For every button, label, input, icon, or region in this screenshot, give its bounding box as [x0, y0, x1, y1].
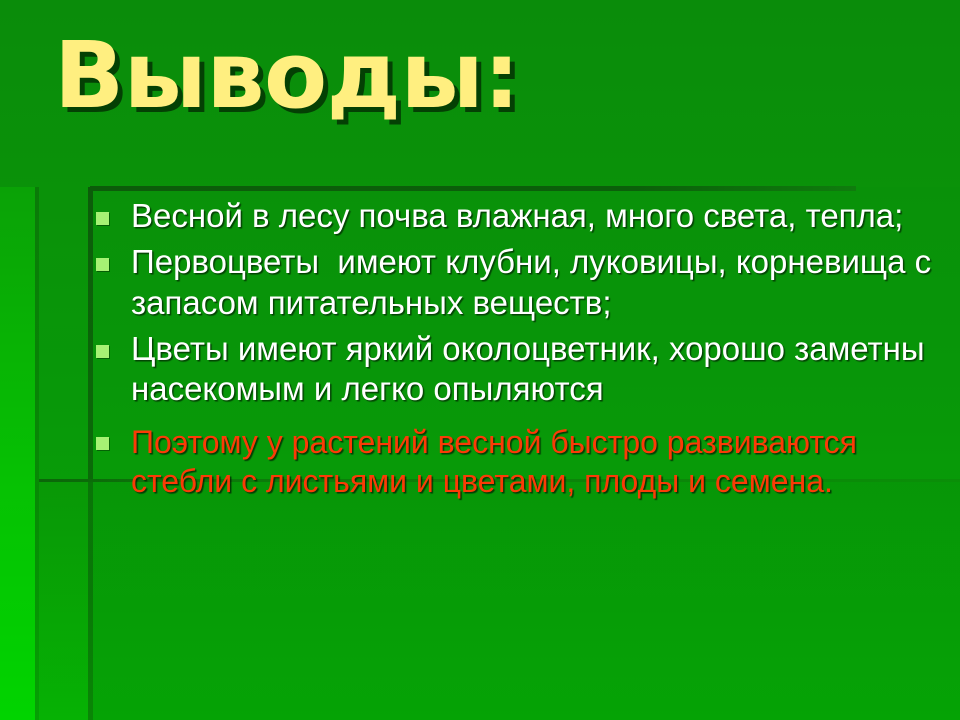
bullet-text: Цветы имеют яркий околоцветник, хорошо з…: [131, 329, 956, 410]
bullet-text: Первоцветы имеют клубни, луковицы, корне…: [131, 242, 956, 323]
bullet-square-icon: [96, 258, 109, 271]
bullet-text: Весной в лесу почва влажная, много света…: [131, 196, 956, 236]
left-accent-strip: [0, 187, 35, 720]
presentation-slide: Выводы: Весной в лесу почва влажная, мно…: [0, 0, 960, 720]
bullet-square-icon: [96, 345, 109, 358]
content-panel-top-border: [90, 186, 856, 191]
slide-title: Выводы:: [54, 30, 520, 122]
list-item: Цветы имеют яркий околоцветник, хорошо з…: [96, 329, 956, 410]
bullet-square-icon: [96, 212, 109, 225]
bullet-list: Весной в лесу почва влажная, много света…: [96, 196, 956, 507]
list-item-highlighted: Поэтому у растений весной быстро развива…: [96, 423, 956, 501]
list-item: Весной в лесу почва влажная, много света…: [96, 196, 956, 236]
list-item: Первоцветы имеют клубни, луковицы, корне…: [96, 242, 956, 323]
bullet-text: Поэтому у растений весной быстро развива…: [131, 423, 956, 501]
accent-panel: [39, 480, 960, 720]
bullet-square-icon: [96, 437, 109, 450]
